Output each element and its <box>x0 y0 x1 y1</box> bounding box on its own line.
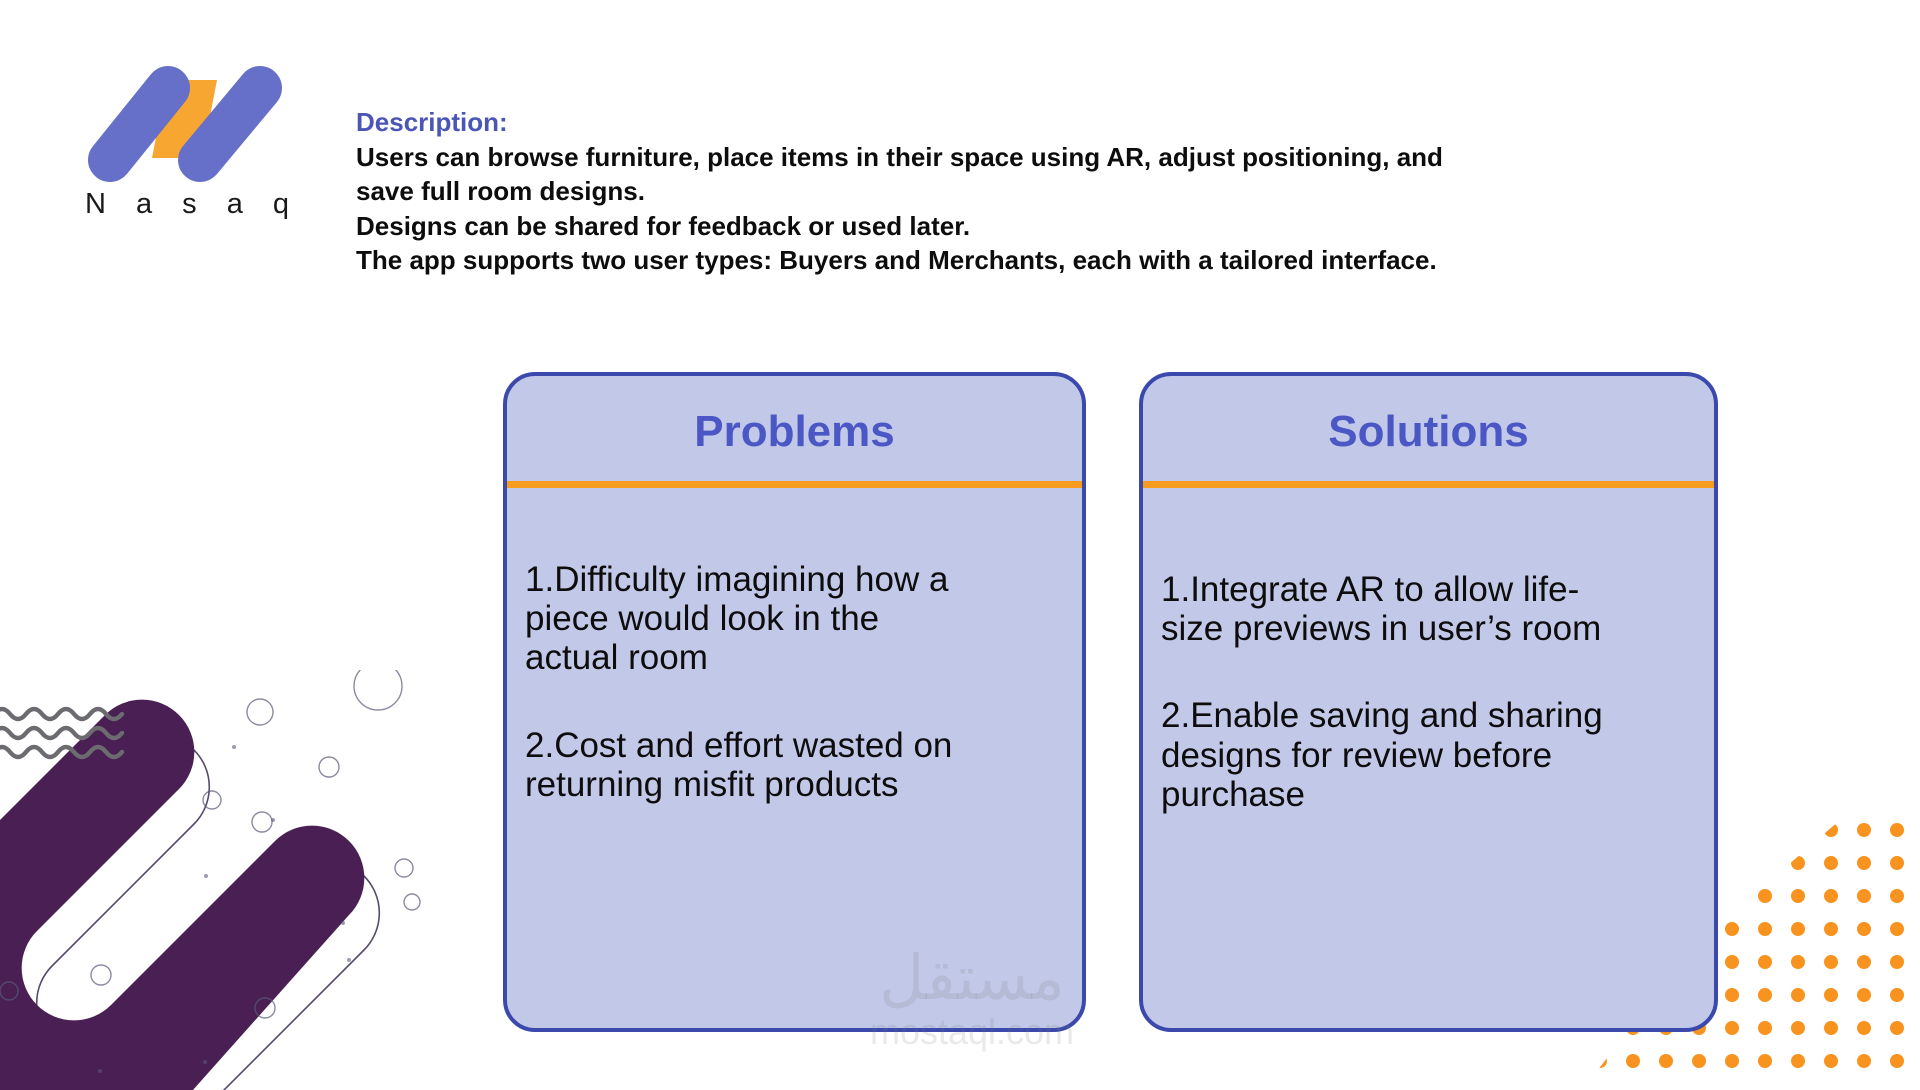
description-line-1: Users can browse furniture, place items … <box>356 140 1716 175</box>
problems-card-divider <box>507 481 1082 488</box>
description-block: Description: Users can browse furniture,… <box>356 105 1716 278</box>
problems-card-body: 1.Difficulty imagining how a piece would… <box>507 560 1082 804</box>
problems-card: Problems 1.Difficulty imagining how a pi… <box>503 372 1086 1032</box>
description-line-2: save full room designs. <box>356 174 1716 209</box>
solutions-card-divider <box>1143 481 1714 488</box>
wavy-lines-decoration <box>0 702 130 768</box>
solution-item-2: 2.Enable saving and sharing designs for … <box>1161 696 1696 814</box>
solution-item-1: 1.Integrate AR to allow life- size previ… <box>1161 570 1696 648</box>
problem-item-1: 1.Difficulty imagining how a piece would… <box>525 560 1064 678</box>
description-heading: Description: <box>356 105 1716 140</box>
problem-item-2: 2.Cost and effort wasted on returning mi… <box>525 726 1064 804</box>
solutions-card-body: 1.Integrate AR to allow life- size previ… <box>1143 570 1714 814</box>
brand-logo: N a s a q <box>72 62 302 221</box>
problems-solutions-cards: Problems 1.Difficulty imagining how a pi… <box>503 372 1718 1032</box>
nasaq-n-logo-icon <box>72 62 302 182</box>
description-line-3: Designs can be shared for feedback or us… <box>356 209 1716 244</box>
solutions-card-title: Solutions <box>1143 404 1714 459</box>
brand-wordmark: N a s a q <box>72 188 302 221</box>
purple-n-shape-decoration <box>0 670 480 1090</box>
problems-card-title: Problems <box>507 404 1082 459</box>
description-line-4: The app supports two user types: Buyers … <box>356 243 1716 278</box>
solutions-card: Solutions 1.Integrate AR to allow life- … <box>1139 372 1718 1032</box>
